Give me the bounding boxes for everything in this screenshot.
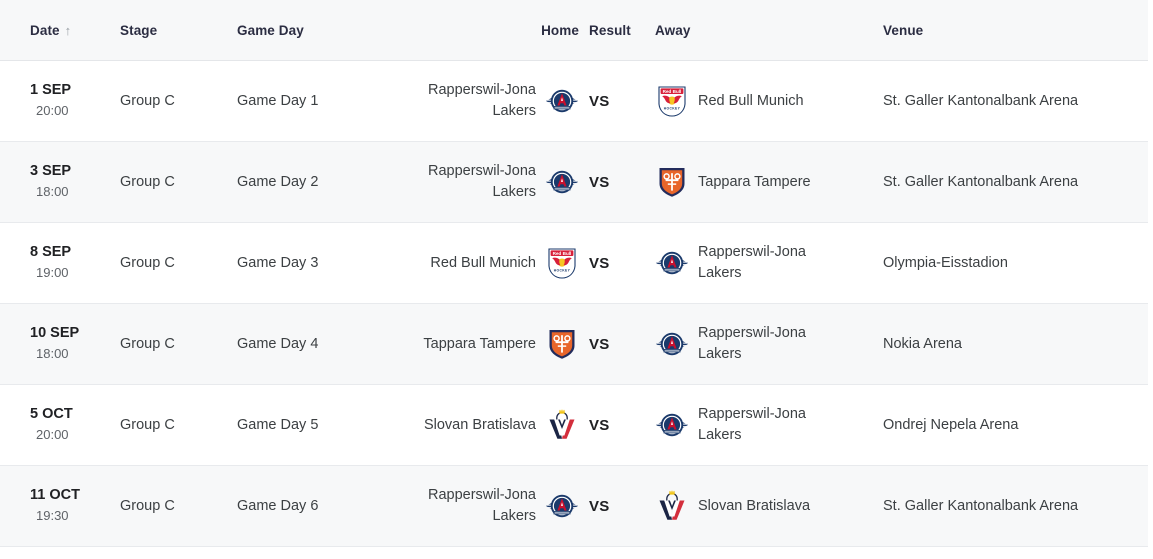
cell-game-day: Game Day 4 bbox=[237, 304, 407, 385]
cell-date: 5 OCT 20:00 bbox=[0, 385, 120, 466]
match-date: 8 SEP bbox=[30, 243, 120, 263]
slovan-crest-icon bbox=[655, 489, 689, 523]
tappara-crest-icon bbox=[655, 165, 689, 199]
column-header-away[interactable]: Away bbox=[655, 0, 883, 61]
cell-home-team[interactable]: Tappara Tampere bbox=[407, 304, 587, 385]
away-team-name: Slovan Bratislava bbox=[698, 496, 810, 517]
sort-ascending-icon[interactable]: ↑ bbox=[65, 24, 72, 37]
match-time: 19:00 bbox=[30, 263, 120, 283]
cell-venue: Ondrej Nepela Arena bbox=[883, 385, 1148, 466]
column-header-game-day[interactable]: Game Day bbox=[237, 0, 407, 61]
match-date: 11 OCT bbox=[30, 486, 120, 506]
cell-game-day: Game Day 5 bbox=[237, 385, 407, 466]
cell-stage: Group C bbox=[120, 61, 237, 142]
table-row[interactable]: 5 OCT 20:00 Group C Game Day 5 Slovan Br… bbox=[0, 385, 1148, 466]
away-team-name: Rapperswil-Jona Lakers bbox=[698, 242, 848, 283]
cell-result: VS bbox=[587, 304, 655, 385]
cell-game-day: Game Day 3 bbox=[237, 223, 407, 304]
lakers-crest-icon bbox=[545, 489, 579, 523]
table-row[interactable]: 8 SEP 19:00 Group C Game Day 3 Red Bull … bbox=[0, 223, 1148, 304]
column-header-result[interactable]: Result bbox=[587, 0, 655, 61]
column-header-venue[interactable]: Venue bbox=[883, 0, 1148, 61]
slovan-crest-icon bbox=[545, 408, 579, 442]
match-date: 10 SEP bbox=[30, 324, 120, 344]
match-time: 18:00 bbox=[30, 344, 120, 364]
cell-venue: Olympia-Eisstadion bbox=[883, 223, 1148, 304]
cell-home-team[interactable]: Slovan Bratislava bbox=[407, 385, 587, 466]
table-row[interactable]: 1 SEP 20:00 Group C Game Day 1 Rapperswi… bbox=[0, 61, 1148, 142]
away-team-name: Red Bull Munich bbox=[698, 91, 804, 112]
match-time: 20:00 bbox=[30, 101, 120, 121]
cell-away-team[interactable]: Rapperswil-Jona Lakers bbox=[655, 304, 883, 385]
table-header-row: Date↑ Stage Game Day Home Result Away Ve… bbox=[0, 0, 1148, 61]
away-team-name: Rapperswil-Jona Lakers bbox=[698, 323, 848, 364]
cell-date: 10 SEP 18:00 bbox=[0, 304, 120, 385]
table-header: Date↑ Stage Game Day Home Result Away Ve… bbox=[0, 0, 1148, 61]
home-team-name: Red Bull Munich bbox=[430, 253, 536, 274]
cell-venue: St. Galler Kantonalbank Arena bbox=[883, 142, 1148, 223]
cell-stage: Group C bbox=[120, 223, 237, 304]
cell-away-team[interactable]: Red Bull HOCKEY Red Bull Munich bbox=[655, 61, 883, 142]
cell-home-team[interactable]: Rapperswil-Jona Lakers bbox=[407, 142, 587, 223]
column-header-home[interactable]: Home bbox=[407, 0, 587, 61]
column-header-date-label: Date bbox=[30, 23, 60, 38]
match-time: 18:00 bbox=[30, 182, 120, 202]
table-body: 1 SEP 20:00 Group C Game Day 1 Rapperswi… bbox=[0, 61, 1148, 547]
home-team-name: Slovan Bratislava bbox=[424, 415, 536, 436]
column-header-stage[interactable]: Stage bbox=[120, 0, 237, 61]
column-header-date[interactable]: Date↑ bbox=[0, 0, 120, 61]
cell-away-team[interactable]: Rapperswil-Jona Lakers bbox=[655, 223, 883, 304]
cell-venue: St. Galler Kantonalbank Arena bbox=[883, 61, 1148, 142]
match-time: 19:30 bbox=[30, 506, 120, 526]
cell-away-team[interactable]: Rapperswil-Jona Lakers bbox=[655, 385, 883, 466]
red-bull-crest-icon: Red Bull HOCKEY bbox=[655, 84, 689, 118]
red-bull-crest-icon: Red Bull HOCKEY bbox=[545, 246, 579, 280]
cell-date: 11 OCT 19:30 bbox=[0, 466, 120, 547]
cell-result: VS bbox=[587, 466, 655, 547]
match-schedule-table: Date↑ Stage Game Day Home Result Away Ve… bbox=[0, 0, 1148, 547]
away-team-name: Tappara Tampere bbox=[698, 172, 811, 193]
cell-stage: Group C bbox=[120, 142, 237, 223]
lakers-crest-icon bbox=[655, 327, 689, 361]
cell-home-team[interactable]: Rapperswil-Jona Lakers bbox=[407, 61, 587, 142]
cell-away-team[interactable]: Tappara Tampere bbox=[655, 142, 883, 223]
lakers-crest-icon bbox=[655, 246, 689, 280]
lakers-crest-icon bbox=[655, 408, 689, 442]
home-team-name: Rapperswil-Jona Lakers bbox=[407, 161, 536, 202]
tappara-crest-icon bbox=[545, 327, 579, 361]
table-row[interactable]: 11 OCT 19:30 Group C Game Day 6 Rappersw… bbox=[0, 466, 1148, 547]
cell-away-team[interactable]: Slovan Bratislava bbox=[655, 466, 883, 547]
svg-text:HOCKEY: HOCKEY bbox=[554, 269, 571, 273]
cell-date: 1 SEP 20:00 bbox=[0, 61, 120, 142]
cell-home-team[interactable]: Rapperswil-Jona Lakers bbox=[407, 466, 587, 547]
match-time: 20:00 bbox=[30, 425, 120, 445]
svg-text:HOCKEY: HOCKEY bbox=[664, 107, 681, 111]
lakers-crest-icon bbox=[545, 165, 579, 199]
cell-result: VS bbox=[587, 223, 655, 304]
away-team-name: Rapperswil-Jona Lakers bbox=[698, 404, 848, 445]
lakers-crest-icon bbox=[545, 84, 579, 118]
home-team-name: Tappara Tampere bbox=[423, 334, 536, 355]
cell-game-day: Game Day 6 bbox=[237, 466, 407, 547]
cell-venue: Nokia Arena bbox=[883, 304, 1148, 385]
cell-game-day: Game Day 1 bbox=[237, 61, 407, 142]
cell-stage: Group C bbox=[120, 385, 237, 466]
cell-result: VS bbox=[587, 142, 655, 223]
svg-text:Red Bull: Red Bull bbox=[553, 251, 572, 256]
cell-home-team[interactable]: Red Bull Munich Red Bull HOCKEY bbox=[407, 223, 587, 304]
cell-result: VS bbox=[587, 61, 655, 142]
match-date: 1 SEP bbox=[30, 81, 120, 101]
svg-text:Red Bull: Red Bull bbox=[663, 89, 682, 94]
cell-date: 3 SEP 18:00 bbox=[0, 142, 120, 223]
table-row[interactable]: 10 SEP 18:00 Group C Game Day 4 Tappara … bbox=[0, 304, 1148, 385]
cell-venue: St. Galler Kantonalbank Arena bbox=[883, 466, 1148, 547]
cell-stage: Group C bbox=[120, 304, 237, 385]
cell-result: VS bbox=[587, 385, 655, 466]
cell-game-day: Game Day 2 bbox=[237, 142, 407, 223]
match-date: 5 OCT bbox=[30, 405, 120, 425]
table-row[interactable]: 3 SEP 18:00 Group C Game Day 2 Rapperswi… bbox=[0, 142, 1148, 223]
home-team-name: Rapperswil-Jona Lakers bbox=[407, 485, 536, 526]
cell-date: 8 SEP 19:00 bbox=[0, 223, 120, 304]
cell-stage: Group C bbox=[120, 466, 237, 547]
match-date: 3 SEP bbox=[30, 162, 120, 182]
home-team-name: Rapperswil-Jona Lakers bbox=[407, 80, 536, 121]
